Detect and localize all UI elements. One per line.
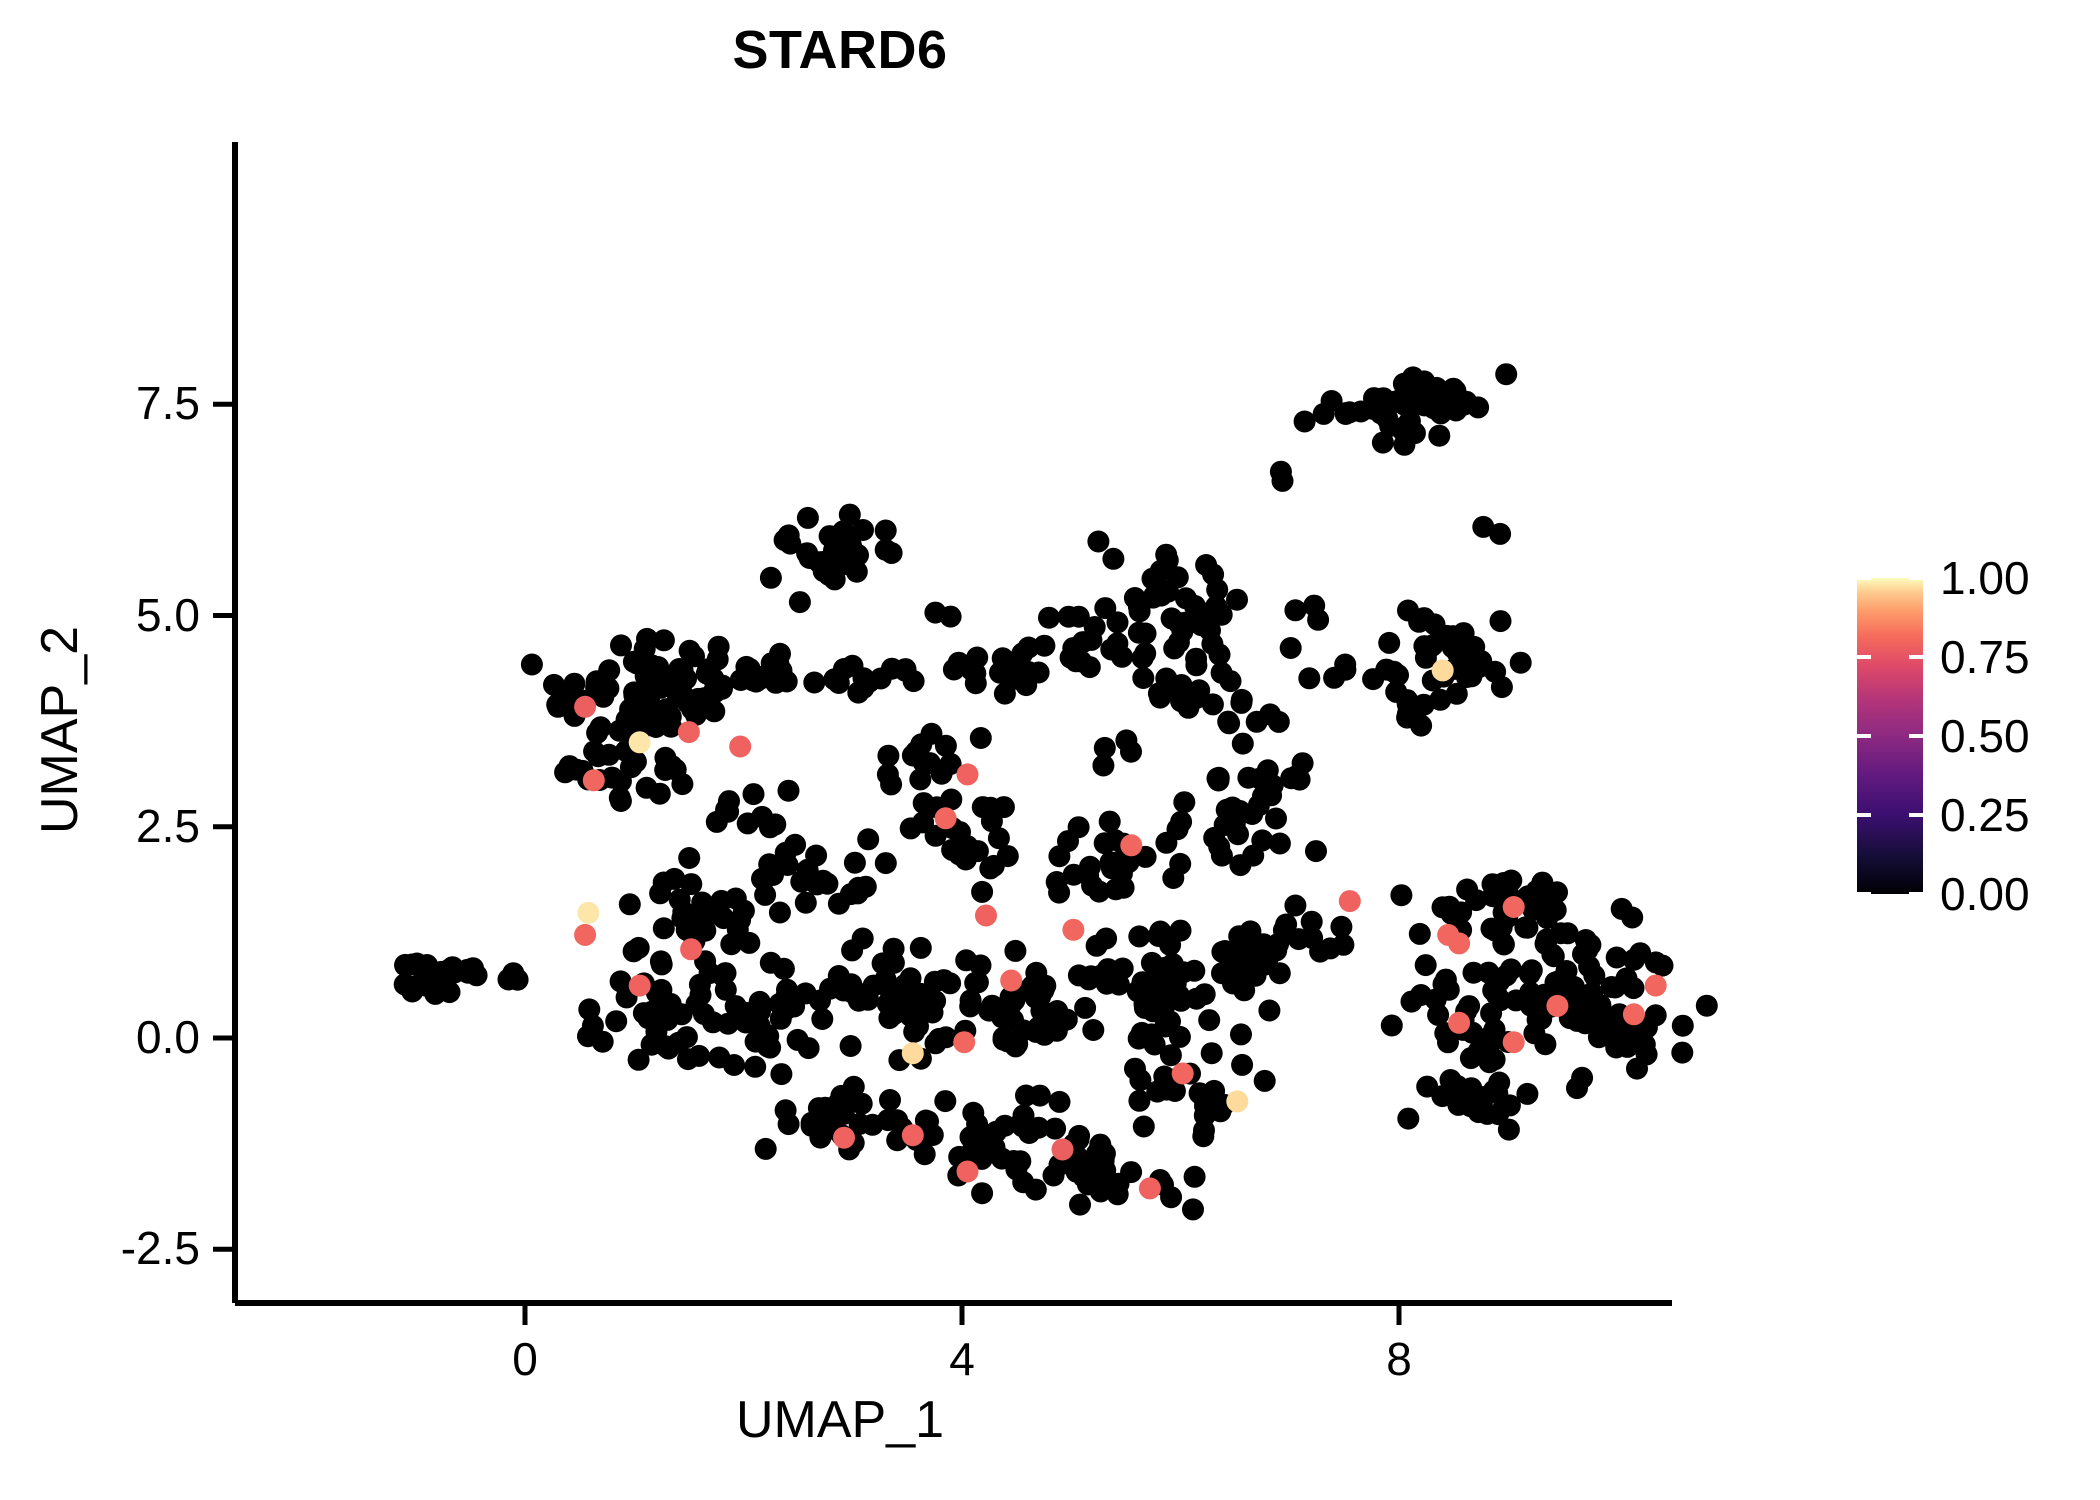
data-point-zero [1077,864,1099,886]
umap-feature-plot: STARD6 -2.50.02.55.07.5 048 UMAP_1 UMAP_… [0,0,2100,1500]
data-point-expressed [574,696,596,718]
data-point-expressed [833,1127,855,1149]
data-point-zero [1074,997,1096,1019]
data-point-zero [1142,1000,1164,1022]
data-point-zero [1132,667,1154,689]
data-point-zero [1068,606,1090,628]
data-point-zero [1009,1150,1031,1172]
data-point-zero [971,881,993,903]
data-point-zero [841,939,863,961]
data-point-zero [795,892,817,914]
data-point-zero [1269,962,1291,984]
data-point-zero [798,1037,820,1059]
data-point-zero [1095,928,1117,950]
data-point-zero [1621,907,1643,929]
data-point-zero [1623,949,1645,971]
data-point-zero [1195,554,1217,576]
data-point-zero [636,628,658,650]
data-point-zero [847,882,869,904]
data-point-zero [1128,925,1150,947]
y-tick-label: -2.5 [20,1221,200,1275]
data-point-zero [676,919,698,941]
data-point-expressed [1226,1090,1248,1112]
data-point-zero [1527,1009,1549,1031]
data-point-zero [769,902,791,924]
data-point-zero [733,900,755,922]
data-point-zero [650,950,672,972]
data-point-expressed [902,1042,924,1064]
data-point-zero [1438,896,1460,918]
legend-tick-label: 0.75 [1940,630,2030,684]
data-point-zero [653,872,675,894]
data-point-zero [1307,609,1329,631]
data-point-zero [1011,643,1033,665]
data-point-zero [1258,1000,1280,1022]
data-point-expressed [1645,975,1667,997]
data-point-zero [1227,823,1249,845]
data-point-zero [1186,988,1208,1010]
data-point-zero [1231,689,1253,711]
data-point-zero [1087,531,1109,553]
data-point-zero [1133,1116,1155,1138]
data-point-zero [777,988,799,1010]
data-point-zero [955,949,977,971]
data-point-zero [1490,610,1512,632]
data-point-zero [672,683,694,705]
data-point-zero [1576,991,1598,1013]
data-point-zero [1029,1085,1051,1107]
data-point-zero [1232,733,1254,755]
data-point-zero [597,677,619,699]
data-point-zero [653,917,675,939]
data-point-zero [1242,845,1264,867]
data-point-zero [962,1102,984,1124]
data-point-zero [1616,967,1638,989]
data-point-zero [1531,872,1553,894]
data-point-expressed [574,924,596,946]
data-point-zero [882,1004,904,1026]
data-point-zero [991,1148,1013,1170]
data-point-zero [1241,965,1263,987]
data-point-zero [877,1109,899,1131]
data-point-zero [1550,922,1572,944]
data-point-zero [680,873,702,895]
data-point-zero [1671,1042,1693,1064]
data-point-expressed [975,905,997,927]
data-point-zero [760,952,782,974]
data-point-zero [828,965,850,987]
data-point-zero [1482,885,1504,907]
data-point-zero [1170,920,1192,942]
data-point-zero [745,1031,767,1053]
data-point-zero [803,672,825,694]
data-point-zero [1422,634,1444,656]
data-point-zero [605,1010,627,1032]
legend-colorbar[interactable] [1857,578,1923,894]
data-point-zero [1135,623,1157,645]
data-point-expressed [1000,970,1022,992]
data-point-zero [933,969,955,991]
data-point-zero [1465,1086,1487,1108]
data-point-zero [1399,410,1421,432]
data-point-expressed [953,1031,975,1053]
data-point-zero [1183,960,1205,982]
data-point-zero [1378,632,1400,654]
data-point-zero [959,995,981,1017]
y-tick-label: 7.5 [20,376,200,430]
data-point-zero [1182,1198,1204,1220]
data-point-zero [1070,651,1092,673]
data-point-expressed [1432,659,1454,681]
data-point-zero [1128,1090,1150,1112]
legend-tick-label: 0.00 [1940,867,2030,921]
data-point-expressed [680,938,702,960]
data-point-zero [1598,1015,1620,1037]
data-point-zero [1280,637,1302,659]
data-point-zero [552,692,574,714]
data-point-zero [806,872,828,894]
y-axis-title: UMAP_2 [30,430,90,1030]
data-point-zero [706,811,728,833]
data-point-zero [521,654,543,676]
data-point-zero [1094,597,1116,619]
data-point-zero [1203,827,1225,849]
data-point-zero [610,790,632,812]
data-point-zero [1132,971,1154,993]
data-point-zero [922,1124,944,1146]
data-point-zero [1229,800,1251,822]
data-point-zero [498,969,520,991]
data-point-zero [796,542,818,564]
data-point-expressed [1448,932,1470,954]
y-axis-ticks [213,404,235,1249]
data-point-zero [554,761,576,783]
data-point-zero [881,542,903,564]
data-point-zero [1437,1031,1459,1053]
data-point-zero [1005,1035,1027,1057]
legend-tick-label: 1.00 [1940,551,2030,605]
data-point-zero [424,983,446,1005]
data-point-zero [1184,595,1206,617]
data-point-zero [1214,940,1236,962]
data-point-zero [1288,928,1310,950]
data-point-zero [1177,697,1199,719]
data-point-zero [1672,1015,1694,1037]
data-point-zero [842,655,864,677]
data-point-zero [720,933,742,955]
data-point-zero [1226,589,1248,611]
data-point-zero [1101,857,1123,879]
data-point-zero [1415,954,1437,976]
data-point-zero [616,709,638,731]
data-point-zero [852,677,874,699]
color-legend[interactable]: 0.000.250.500.751.00 [1850,560,2090,920]
data-point-zero [649,783,671,805]
data-points-layer [394,363,1718,1220]
data-point-zero [1571,1067,1593,1089]
data-point-zero [1254,1070,1276,1092]
data-point-zero [902,745,924,767]
data-point-zero [1516,917,1538,939]
data-point-zero [797,507,819,529]
data-point-zero [697,658,719,680]
data-point-zero [737,812,759,834]
data-point-zero [912,811,934,833]
data-point-zero [1057,830,1079,852]
data-point-zero [1094,832,1116,854]
data-point-zero [1265,940,1287,962]
data-point-zero [775,842,797,864]
data-point-zero [655,1035,677,1057]
data-point-zero [577,1025,599,1047]
data-point-zero [811,1008,833,1030]
data-point-zero [770,1063,792,1085]
data-point-zero [875,520,897,542]
data-point-zero [690,984,712,1006]
data-point-expressed [1339,890,1361,912]
data-point-zero [1488,1072,1510,1094]
data-point-zero [610,634,632,656]
data-point-zero [1313,403,1335,425]
data-point-zero [735,1002,757,1024]
data-point-zero [914,1143,936,1165]
data-point-zero [715,979,737,1001]
data-point-expressed [1623,1003,1645,1025]
data-point-zero [466,964,488,986]
data-point-zero [970,727,992,749]
data-point-zero [1390,884,1412,906]
data-point-zero [994,683,1016,705]
data-point-expressed [902,1124,924,1146]
data-point-zero [637,1007,659,1029]
data-point-zero [1309,941,1331,963]
data-point-expressed [729,736,751,758]
data-point-zero [765,672,787,694]
data-point-zero [1171,621,1193,643]
data-point-zero [1217,711,1239,733]
data-point-expressed [1120,834,1142,856]
data-point-zero [997,845,1019,867]
data-point-zero [857,828,879,850]
data-point-zero [401,954,423,976]
data-point-zero [1409,923,1431,945]
data-point-zero [1206,579,1228,601]
legend-tick-label: 0.25 [1940,788,2030,842]
data-point-zero [921,723,943,745]
data-point-zero [620,756,642,778]
data-point-zero [1334,654,1356,676]
data-point-zero [563,673,585,695]
data-point-zero [1037,1005,1059,1027]
data-point-zero [1446,641,1468,663]
scatter-plot-canvas [0,0,2100,1500]
data-point-zero [1115,729,1137,751]
data-point-zero [1105,878,1127,900]
data-point-zero [844,852,866,874]
data-point-expressed [1062,919,1084,941]
data-point-zero [840,1035,862,1057]
data-point-zero [848,990,870,1012]
data-point-zero [789,591,811,613]
data-point-zero [1305,840,1327,862]
data-point-zero [909,996,931,1018]
data-point-zero [1230,1023,1252,1045]
data-point-zero [1428,425,1450,447]
data-point-zero [1381,1015,1403,1037]
data-point-zero [964,972,986,994]
data-point-zero [895,658,917,680]
data-point-zero [1491,676,1513,698]
data-point-zero [1056,1009,1078,1031]
data-point-zero [879,1089,901,1111]
data-point-zero [805,845,827,867]
data-point-expressed [1546,995,1568,1017]
data-point-zero [965,672,987,694]
data-point-zero [691,892,713,914]
data-point-zero [1489,523,1511,545]
data-point-zero [960,1142,982,1164]
data-point-zero [1488,970,1510,992]
data-point-zero [1189,1082,1211,1104]
data-point-zero [1519,963,1541,985]
data-point-zero [1289,769,1311,791]
data-point-zero [1362,668,1384,690]
data-point-zero [875,968,897,990]
data-point-zero [1516,1083,1538,1105]
data-point-zero [645,716,667,738]
legend-tick-label: 0.50 [1940,709,2030,763]
data-point-zero [1106,632,1128,654]
data-point-zero [1194,1105,1216,1127]
data-point-zero [956,835,978,857]
data-point-zero [1460,1047,1482,1069]
data-point-zero [1004,940,1026,962]
data-point-zero [778,524,800,546]
data-point-zero [1495,363,1517,385]
data-point-zero [828,893,850,915]
data-point-zero [1033,635,1055,657]
data-point-zero [823,668,845,690]
data-point-zero [778,1113,800,1135]
data-point-zero [1184,1166,1206,1188]
data-point-zero [583,740,605,762]
data-point-expressed [577,902,599,924]
data-point-zero [1335,402,1357,424]
data-point-zero [1211,662,1233,684]
data-point-zero [1510,652,1532,674]
data-point-zero [1231,1054,1253,1076]
data-point-zero [924,602,946,624]
data-point-zero [1284,895,1306,917]
data-point-zero [1442,378,1464,400]
data-point-zero [1092,755,1114,777]
data-point-zero [778,780,800,802]
data-point-zero [755,1138,777,1160]
data-point-expressed [678,721,700,743]
data-point-expressed [957,1161,979,1183]
data-point-zero [1294,411,1316,433]
data-point-zero [934,1090,956,1112]
data-point-expressed [1448,1012,1470,1034]
data-point-zero [1500,870,1522,892]
data-point-zero [744,1056,766,1078]
data-point-zero [831,522,853,544]
data-point-zero [1652,955,1674,977]
data-point-zero [1091,964,1113,986]
data-point-zero [1397,1108,1419,1130]
data-point-zero [971,1182,993,1204]
data-point-zero [1298,667,1320,689]
x-tick-label: 0 [465,1332,585,1386]
data-point-zero [1162,677,1184,699]
data-point-zero [1029,986,1051,1008]
data-point-zero [657,995,679,1017]
data-point-zero [628,937,650,959]
data-point-zero [1198,1009,1220,1031]
data-point-expressed [629,731,651,753]
data-point-expressed [583,769,605,791]
data-point-zero [1015,674,1037,696]
data-point-zero [1201,1042,1223,1064]
data-point-zero [1492,932,1514,954]
data-point-zero [743,783,765,805]
x-axis-ticks [525,1303,1399,1325]
data-point-zero [1165,973,1187,995]
data-point-zero [1129,1069,1151,1091]
data-point-zero [948,652,970,674]
data-point-zero [711,678,733,700]
data-point-zero [1445,400,1467,422]
data-point-zero [1099,811,1121,833]
data-point-zero [1468,656,1490,678]
data-point-zero [1155,544,1177,566]
data-point-zero [1091,1169,1113,1191]
data-point-zero [1408,611,1430,633]
data-point-zero [708,636,730,658]
data-point-zero [1268,711,1290,733]
data-point-zero [1169,853,1191,875]
data-point-zero [1427,1004,1449,1026]
data-point-zero [668,658,690,680]
data-point-zero [1003,989,1025,1011]
data-point-zero [1148,925,1170,947]
data-point-zero [1162,953,1184,975]
data-point-zero [1207,767,1229,789]
data-point-zero [1082,1019,1104,1041]
data-point-zero [1541,944,1563,966]
data-point-zero [1157,581,1179,603]
data-point-zero [1696,995,1718,1017]
data-point-zero [1379,415,1401,437]
x-tick-label: 8 [1339,1332,1459,1386]
data-point-zero [1134,642,1156,664]
data-point-zero [1048,882,1070,904]
data-point-zero [661,755,683,777]
data-point-zero [1044,1118,1066,1140]
data-point-zero [1578,956,1600,978]
data-point-zero [1249,768,1271,790]
data-point-zero [966,647,988,669]
data-point-zero [1069,1194,1091,1216]
data-point-zero [760,567,782,589]
data-point-zero [1575,929,1597,951]
data-point-zero [1038,607,1060,629]
data-point-zero [877,745,899,767]
data-point-zero [1160,1044,1182,1066]
data-point-zero [875,852,897,874]
data-point-zero [1440,1069,1462,1091]
data-point-zero [1025,1179,1047,1201]
